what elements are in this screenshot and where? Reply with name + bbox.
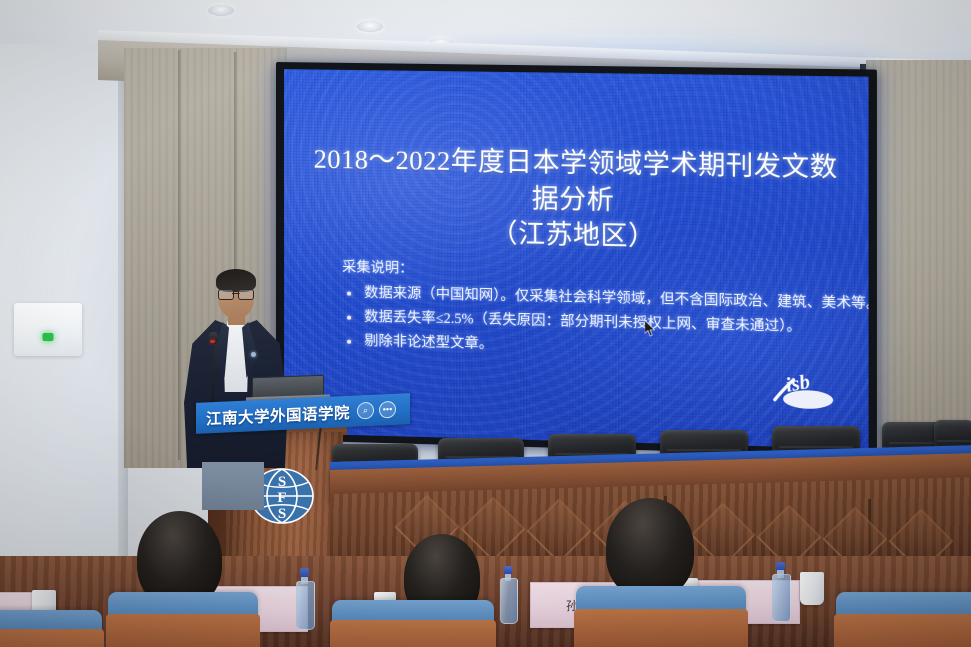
slide-title: 2018～2022年度日本学领域学术期刊发文数据分析 （江苏地区）	[284, 141, 869, 259]
search-icon[interactable]: ⌕	[357, 402, 374, 420]
audience-seat[interactable]	[108, 592, 258, 628]
eyeglasses-icon	[218, 289, 254, 298]
ceiling-downlight-1	[208, 5, 234, 16]
water-bottle[interactable]	[772, 562, 789, 622]
podium-banner-text: 江南大学外国语学院	[196, 400, 350, 429]
status-led-icon	[43, 333, 54, 341]
presentation-slide: 2018～2022年度日本学领域学术期刊发文数据分析 （江苏地区） 采集说明： …	[284, 69, 869, 449]
wood-wall-right	[866, 60, 971, 480]
slide-bullet-list: 数据来源（中国知网）。仅采集社会科学领域，但不含国际政治、建筑、美术等。 数据丢…	[342, 281, 837, 365]
paper-cup[interactable]	[800, 572, 824, 605]
conference-hall-photo: 2018～2022年度日本学领域学术期刊发文数据分析 （江苏地区） 采集说明： …	[0, 0, 971, 647]
audience-seat[interactable]	[576, 586, 746, 624]
cnki-script-logo: isb	[766, 365, 841, 414]
mouse-pointer	[645, 320, 656, 336]
slide-title-line1: 2018～2022年度日本学领域学术期刊发文数据分析	[314, 144, 838, 215]
slide-title-line2: （江苏地区）	[302, 212, 850, 258]
slide-body: 采集说明： 数据来源（中国知网）。仅采集社会科学领域，但不含国际政治、建筑、美术…	[342, 256, 837, 365]
svg-text:isb: isb	[784, 370, 813, 396]
ceiling-downlight-2	[357, 21, 383, 32]
presenter-lapel-pin	[251, 352, 256, 357]
svg-text:S: S	[278, 506, 286, 522]
audience-member-head	[606, 498, 694, 598]
microphone-indicator	[210, 340, 215, 343]
banner-icon-group: ⌕ •••	[357, 401, 396, 420]
audience-seat[interactable]	[0, 610, 102, 642]
water-bottle[interactable]	[500, 566, 516, 624]
audience-seat[interactable]	[332, 600, 494, 634]
more-options-icon[interactable]: •••	[379, 401, 396, 419]
water-bottle[interactable]	[296, 568, 313, 630]
presenter-lower-body	[202, 462, 264, 510]
audience-seat[interactable]	[836, 592, 971, 628]
wall-control-panel[interactable]	[14, 303, 82, 356]
